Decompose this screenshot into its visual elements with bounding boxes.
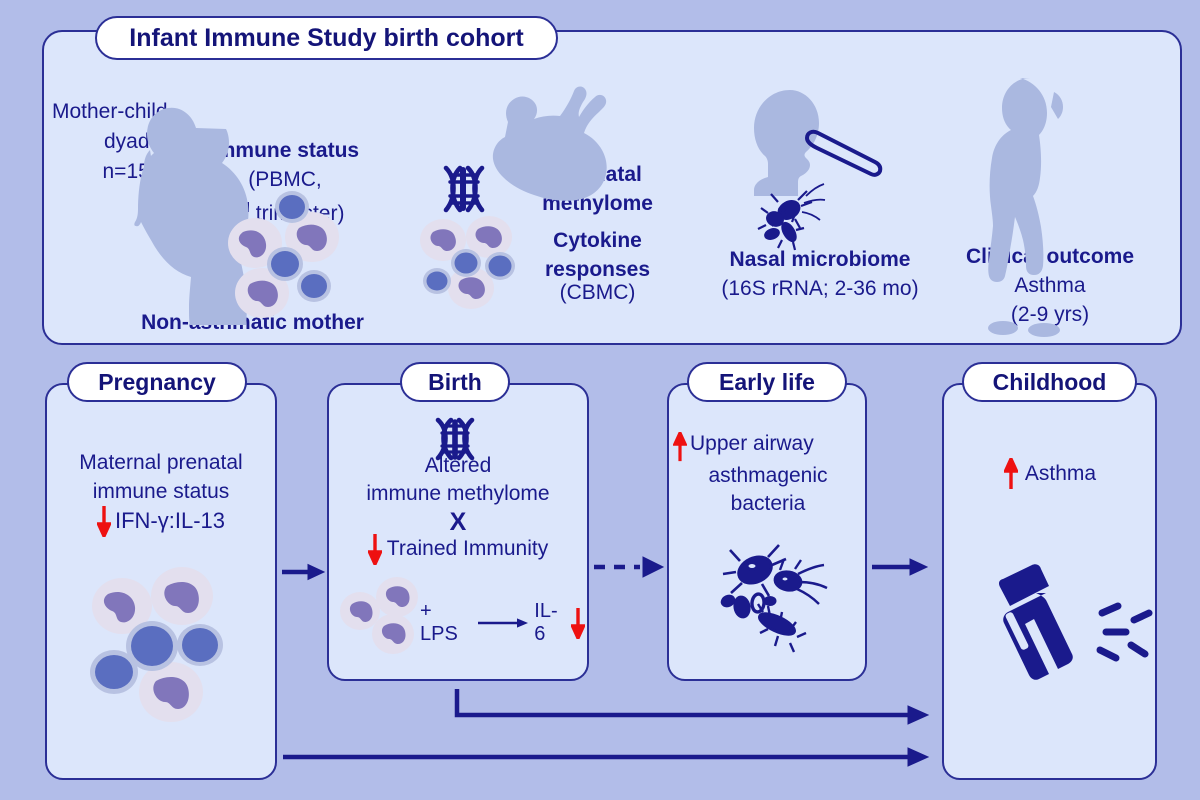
clinical-line3: (2-9 yrs) — [955, 300, 1145, 329]
lps-il6-row: + LPS IL-6 — [340, 600, 585, 646]
birth-title: Birth — [428, 369, 482, 396]
trained-immunity-row: Trained Immunity — [333, 533, 583, 565]
altered-line1: Altered — [333, 452, 583, 480]
mother-child-line1: Mother-child — [52, 97, 212, 127]
trained-immunity-label: Trained Immunity — [387, 537, 548, 561]
early-life-panel — [667, 383, 867, 681]
cbmc-label: (CBMC) — [510, 281, 685, 305]
mother-child-dyads-label: Mother-child dyads n=155 — [52, 97, 212, 187]
cytokine-responses-label: Cytokine responses — [510, 226, 685, 284]
maternal-line1: Maternal prenatal — [55, 448, 267, 477]
up-arrow-icon — [1004, 458, 1018, 490]
cohort-title: Infant Immune Study birth cohort — [129, 24, 523, 53]
upper-airway-line3: bacteria — [673, 490, 863, 518]
neonatal-methylome-label: Neonatal methylome — [510, 160, 685, 218]
down-arrow-icon — [97, 505, 111, 537]
il6-label: IL-6 — [534, 600, 567, 646]
down-arrow-icon — [571, 607, 585, 639]
arrow-pregnancy-to-birth — [282, 565, 324, 580]
immune-status-heading: Immune status — [190, 136, 380, 165]
maternal-line2: immune status — [55, 477, 267, 506]
upper-airway-bacteria-label: Upper airway asthmagenic bacteria — [673, 430, 863, 518]
maternal-immune-status-label: Maternal prenatal immune status — [55, 448, 267, 506]
neonatal-line2: methylome — [510, 189, 685, 218]
clinical-line2: Asthma — [955, 271, 1145, 300]
clinical-heading: Clinical outcome — [955, 242, 1145, 271]
childhood-panel — [942, 383, 1157, 780]
altered-line2: immune methylome — [333, 480, 583, 508]
down-arrow-icon — [368, 533, 382, 565]
diagram-canvas: Infant Immune Study birth cohort Mother-… — [0, 0, 1200, 800]
up-arrow-icon — [673, 432, 687, 462]
upper-airway-line2: asthmagenic — [673, 462, 863, 490]
arrow-birth-to-early-life — [594, 557, 663, 577]
early-life-title: Early life — [719, 369, 815, 396]
cohort-title-pill: Infant Immune Study birth cohort — [95, 16, 558, 60]
pregnancy-title-pill: Pregnancy — [67, 362, 247, 402]
altered-methylome-label: Altered immune methylome — [333, 452, 583, 508]
early-life-title-pill: Early life — [687, 362, 847, 402]
ifn-il13-ratio-row: IFN-γ:IL-13 — [55, 505, 267, 537]
clinical-outcome-label: Clinical outcome Asthma (2-9 yrs) — [955, 242, 1145, 329]
pregnancy-title: Pregnancy — [98, 369, 216, 396]
asthma-outcome-row: Asthma — [950, 458, 1150, 490]
immune-status-line2: (PBMC, — [190, 165, 380, 194]
childhood-title: Childhood — [993, 369, 1107, 396]
arrow-early-life-to-childhood — [872, 559, 927, 575]
lps-label: + LPS — [420, 600, 472, 646]
ifn-il13-label: IFN-γ:IL-13 — [115, 508, 225, 534]
nasal-detail: (16S rRNA; 2-36 mo) — [695, 274, 945, 303]
reaction-arrow-icon — [476, 616, 530, 630]
mother-child-line2: dyads — [52, 127, 212, 157]
cytokine-line2: responses — [510, 255, 685, 284]
cytokine-line1: Cytokine — [510, 226, 685, 255]
neonatal-line1: Neonatal — [510, 160, 685, 189]
arrow-pregnancy-to-childhood — [283, 748, 928, 766]
immune-status-label: Immune status (PBMC, 3rd trimester) — [190, 136, 380, 228]
upper-airway-line1: Upper airway — [690, 432, 814, 455]
nasal-heading: Nasal microbiome — [695, 245, 945, 274]
pregnancy-panel — [45, 383, 277, 780]
birth-title-pill: Birth — [400, 362, 510, 402]
asthma-label: Asthma — [1025, 462, 1096, 486]
mother-child-line3: n=155 — [52, 157, 212, 187]
childhood-title-pill: Childhood — [962, 362, 1137, 402]
arrow-birth-to-childhood-elbow — [457, 689, 928, 724]
non-asthmatic-mother-label: Non-asthmatic mother — [120, 311, 385, 335]
nasal-microbiome-label: Nasal microbiome (16S rRNA; 2-36 mo) — [695, 245, 945, 303]
immune-status-line3: 3rd trimester) — [190, 194, 380, 228]
